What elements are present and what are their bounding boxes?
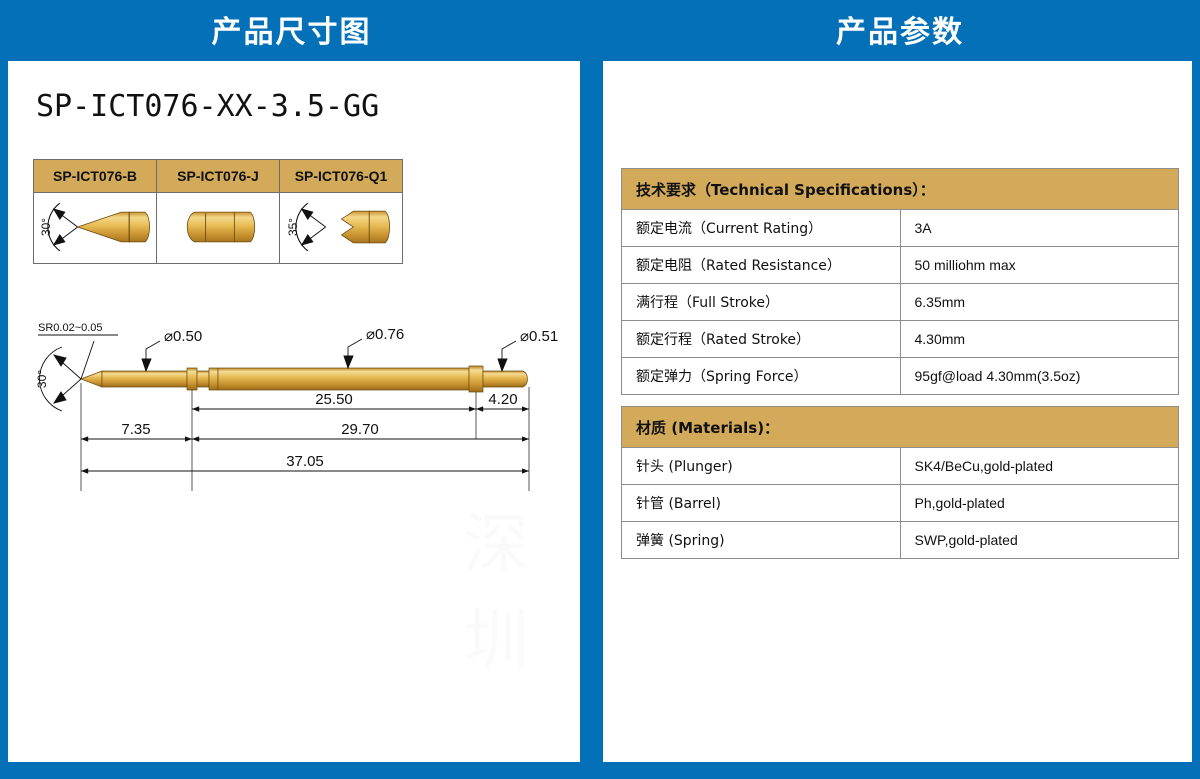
plunger-diameter-label: ⌀0.50 [164, 328, 202, 345]
variant-name-q1: SP-ICT076-Q1 [280, 160, 403, 193]
pin-drawing-svg: 30° SR0.02~0.05 ⌀0.50 ⌀0.76 [18, 283, 574, 503]
header-product-parameters: 产品参数 [600, 0, 1200, 58]
table-row: 弹簧 (Spring) SWP,gold-plated [622, 522, 1179, 559]
spec-value-rated-stroke: 4.30mm [900, 321, 1179, 358]
material-value-barrel: Ph,gold-plated [900, 485, 1179, 522]
plunger-length-label: 7.35 [121, 421, 150, 438]
variant-name-j: SP-ICT076-J [157, 160, 280, 193]
material-key-spring: 弹簧 (Spring) [622, 522, 901, 559]
table-row: 额定电阻（Rated Resistance） 50 milliohm max [622, 247, 1179, 284]
materials-table: 材质 (Materials)： 针头 (Plunger) SK4/BeCu,go… [621, 406, 1179, 559]
spec-value-rated-resistance: 50 milliohm max [900, 247, 1179, 284]
model-number-title: SP-ICT076-XX-3.5-GG [36, 89, 379, 124]
table-row: 额定弹力（Spring Force） 95gf@load 4.30mm(3.5o… [622, 358, 1179, 395]
product-parameters-panel: 技术要求（Technical Specifications）： 额定电流（Cur… [600, 58, 1195, 765]
materials-group-label: 材质 (Materials)： [622, 407, 1179, 448]
crown-prong-tip-icon: 35° [280, 193, 402, 263]
spec-key-current-rating: 额定电流（Current Rating） [622, 210, 901, 247]
variant-tip-q1-cell: 35° [280, 193, 403, 264]
conical-tip-icon: 30° [34, 193, 156, 263]
materials-group-header-row: 材质 (Materials)： [622, 407, 1179, 448]
svg-text:35°: 35° [286, 218, 300, 236]
material-value-spring: SWP,gold-plated [900, 522, 1179, 559]
barrel-diameter-label: ⌀0.76 [366, 326, 404, 343]
header-dimension-drawing: 产品尺寸图 [0, 0, 583, 58]
material-key-barrel: 针管 (Barrel) [622, 485, 901, 522]
variant-tip-j-cell [157, 193, 280, 264]
product-spec-sheet: 产品尺寸图 产品参数 SP-ICT076-XX-3.5-GG SP-ICT076… [0, 0, 1200, 779]
variant-tip-row: 30° [34, 193, 403, 264]
spec-key-rated-stroke: 额定行程（Rated Stroke） [622, 321, 901, 358]
dimension-drawing-panel: SP-ICT076-XX-3.5-GG SP-ICT076-B SP-ICT07… [5, 58, 583, 765]
svg-text:30°: 30° [35, 370, 49, 388]
material-value-plunger: SK4/BeCu,gold-plated [900, 448, 1179, 485]
table-row: 满行程（Full Stroke） 6.35mm [622, 284, 1179, 321]
tech-group-header-row: 技术要求（Technical Specifications）： [622, 169, 1179, 210]
watermark: 深圳 [463, 491, 580, 683]
spec-value-current-rating: 3A [900, 210, 1179, 247]
overall-length-label: 37.05 [286, 453, 324, 470]
pin-dimension-drawing: 30° SR0.02~0.05 ⌀0.50 ⌀0.76 [18, 283, 574, 503]
table-row: 额定行程（Rated Stroke） 4.30mm [622, 321, 1179, 358]
table-row: 额定电流（Current Rating） 3A [622, 210, 1179, 247]
svg-text:30°: 30° [39, 218, 53, 236]
spec-value-full-stroke: 6.35mm [900, 284, 1179, 321]
radius-note-label: SR0.02~0.05 [38, 322, 103, 334]
barrel-plus-tail-label: 29.70 [341, 421, 379, 438]
variant-header-row: SP-ICT076-B SP-ICT076-J SP-ICT076-Q1 [34, 160, 403, 193]
tail-length-label: 4.20 [488, 391, 517, 408]
rounded-dome-tip-icon [157, 193, 279, 263]
spec-key-rated-resistance: 额定电阻（Rated Resistance） [622, 247, 901, 284]
tech-group-label: 技术要求（Technical Specifications）： [622, 169, 1179, 210]
table-row: 针头 (Plunger) SK4/BeCu,gold-plated [622, 448, 1179, 485]
table-row: 针管 (Barrel) Ph,gold-plated [622, 485, 1179, 522]
variant-name-b: SP-ICT076-B [34, 160, 157, 193]
tail-diameter-label: ⌀0.51 [520, 328, 558, 345]
technical-specifications-table: 技术要求（Technical Specifications）： 额定电流（Cur… [621, 168, 1179, 395]
material-key-plunger: 针头 (Plunger) [622, 448, 901, 485]
spec-key-full-stroke: 满行程（Full Stroke） [622, 284, 901, 321]
tip-variant-table: SP-ICT076-B SP-ICT076-J SP-ICT076-Q1 [33, 159, 403, 264]
barrel-length-label: 25.50 [315, 391, 353, 408]
variant-tip-b-cell: 30° [34, 193, 157, 264]
spec-value-spring-force: 95gf@load 4.30mm(3.5oz) [900, 358, 1179, 395]
spec-key-spring-force: 额定弹力（Spring Force） [622, 358, 901, 395]
